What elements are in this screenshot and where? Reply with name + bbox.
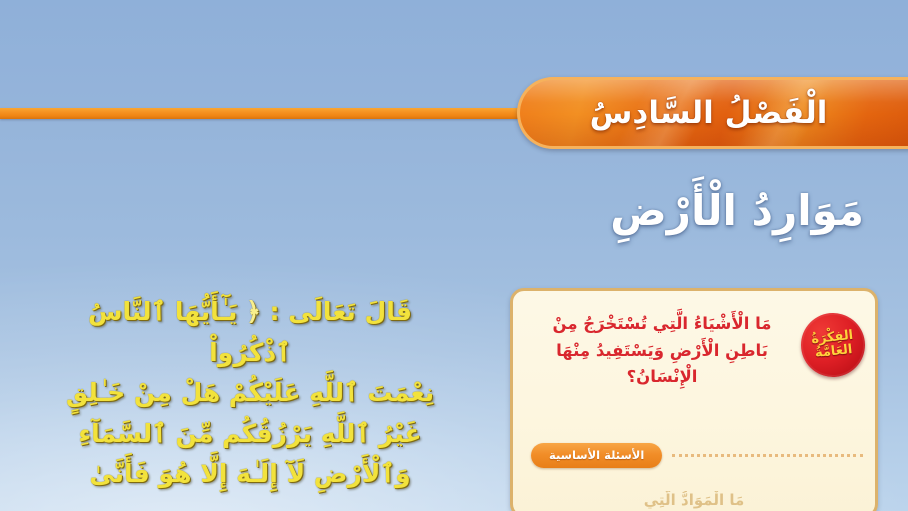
quran-verse-block: قَالَ تَعَالَى : ﴿ يَـٰٓأَيُّهَا ٱلنَّاس…: [54, 292, 446, 495]
big-idea-question: مَا الْأَشْيَاءُ الَّتِي تُسْتَخْرَجُ مِ…: [527, 311, 797, 391]
verse-line-4: وَٱلْأَرْضِ لَآ إِلَـٰهَ إِلَّا هُوَ فَأ…: [54, 454, 446, 495]
verse-lead-in: قَالَ تَعَالَى :: [270, 297, 412, 326]
big-idea-card: الفِكْرَةُ العَامَّةُ مَا الْأَشْيَاءُ ا…: [510, 288, 878, 511]
verse-line-1: قَالَ تَعَالَى : ﴿ يَـٰٓأَيُّهَا ٱلنَّاس…: [54, 292, 446, 373]
verse-line-3: غَيْرُ ٱللَّهِ يَرْزُقُكُم مِّنَ ٱلسَّمَ…: [54, 414, 446, 455]
essential-questions-row: الأسئلة الأساسية: [531, 443, 863, 468]
textbook-chapter-page: الْفَصْلُ السَّادِسُ مَوَارِدُ الْأَرْضِ…: [0, 0, 908, 511]
verse-open-bracket-icon: ﴿: [246, 297, 261, 326]
big-idea-stamp-badge: الفِكْرَةُ العَامَّةُ: [798, 310, 868, 380]
chapter-banner-label: الْفَصْلُ السَّادِسُ: [590, 95, 828, 131]
page-title: مَوَارِدُ الْأَرْضِ: [610, 186, 864, 235]
card-cropped-subtext: مَا الْمَوَادُّ الَّتِي: [543, 491, 845, 509]
essential-questions-tab[interactable]: الأسئلة الأساسية: [531, 443, 662, 468]
verse-text-1: يَـٰٓأَيُّهَا ٱلنَّاسُ ٱذْكُرُواْ: [88, 297, 291, 367]
dotted-separator: [672, 454, 863, 457]
question-line-2: بَاطِنِ الْأَرْضِ وَيَسْتَفِيدُ مِنْهَا: [527, 338, 797, 365]
horizontal-orange-rule: [0, 108, 560, 119]
question-line-1: مَا الْأَشْيَاءُ الَّتِي تُسْتَخْرَجُ مِ…: [527, 311, 797, 338]
verse-line-2: نِعْمَتَ ٱللَّهِ عَلَيْكُمْ هَلْ مِنْ خَ…: [54, 373, 446, 414]
stamp-label-line-2: العَامَّةُ: [814, 343, 853, 360]
chapter-banner: الْفَصْلُ السَّادِسُ: [517, 77, 908, 149]
question-line-3: الْإِنْسَانُ؟: [527, 364, 797, 391]
